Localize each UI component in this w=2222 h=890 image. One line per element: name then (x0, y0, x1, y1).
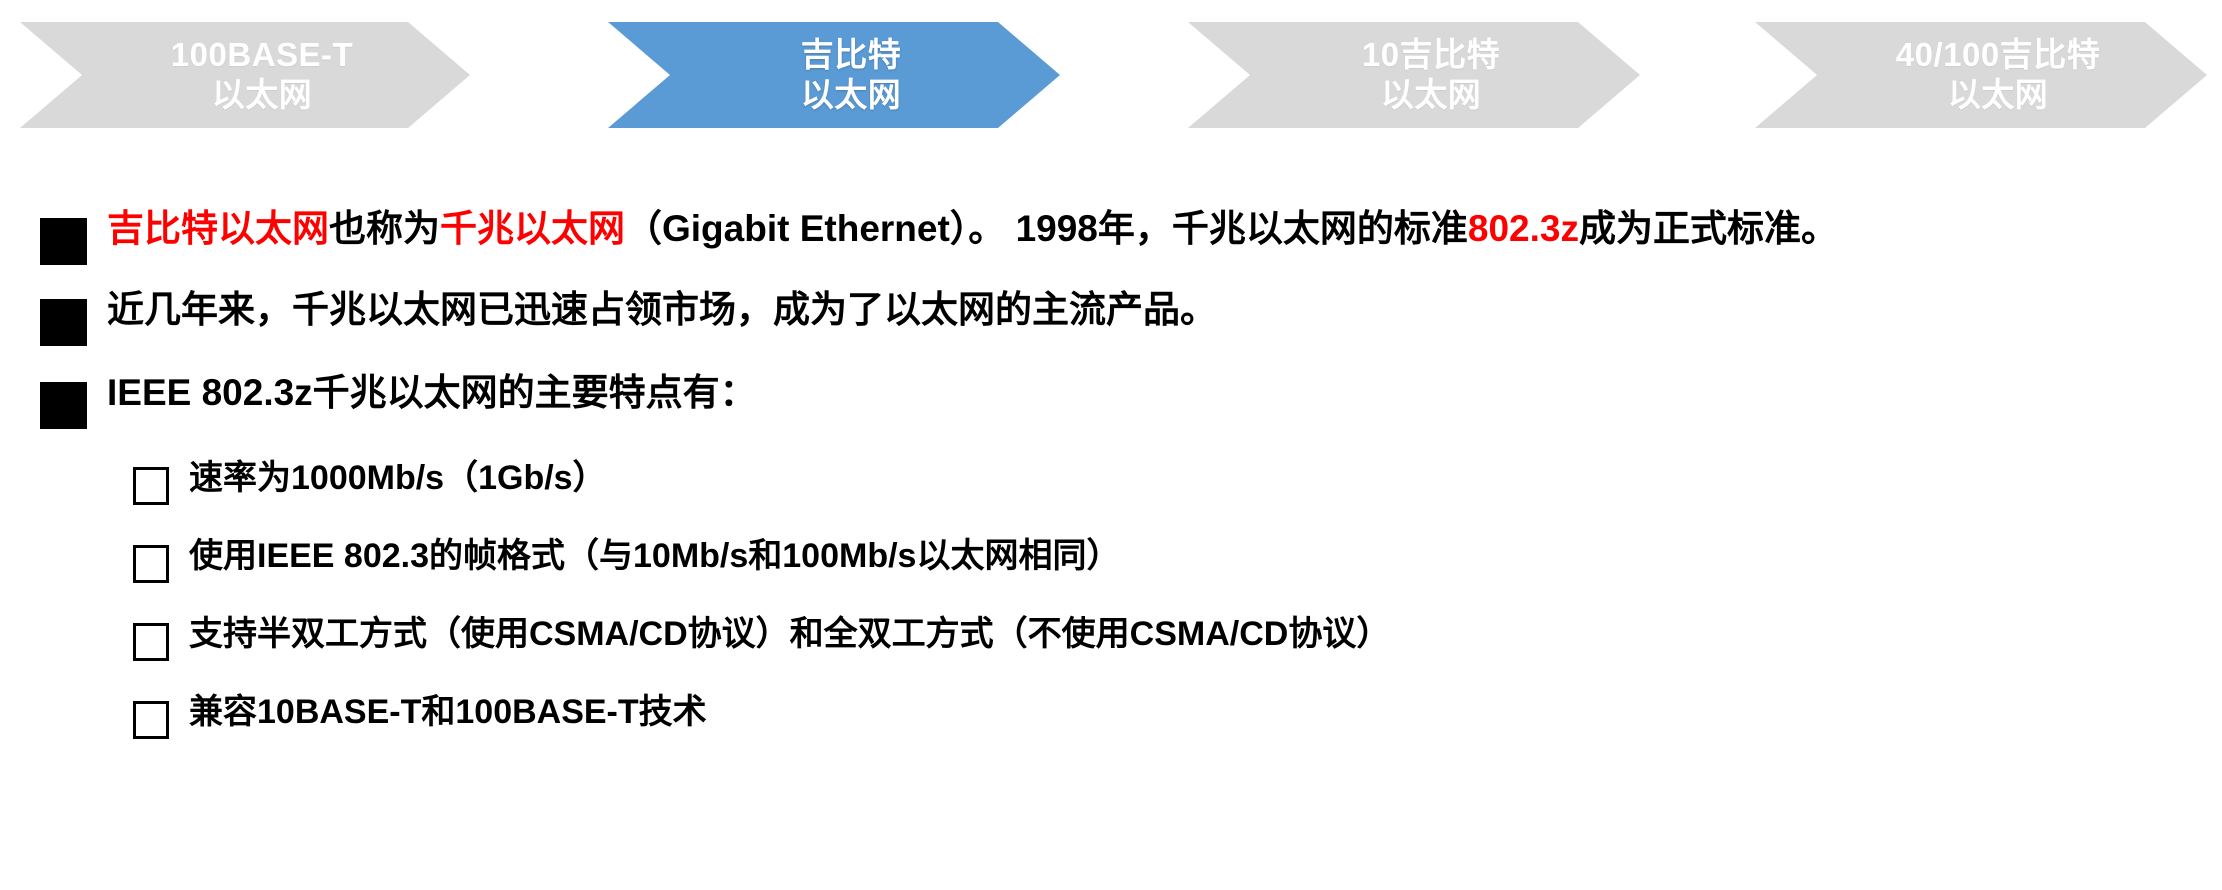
sub-bullet-text: 速率为1000Mb/s（1Gb/s） (189, 459, 607, 497)
bullet-item-definition: 吉比特以太网也称为千兆以太网（Gigabit Ethernet）。 1998年，… (0, 208, 2222, 265)
chevron-step-10-gigabit-ethernet[interactable]: 10吉比特 以太网 (1188, 22, 1640, 128)
bullet-highlight-802-3z: 802.3z (1468, 208, 1579, 249)
chevron-step-label: 100BASE-T 以太网 (137, 35, 353, 116)
sub-bullet-text: 兼容10BASE-T和100BASE-T技术 (189, 693, 707, 731)
bullet-segment-became-official: 成为正式标准。 (1579, 208, 1838, 249)
slide-body: 吉比特以太网也称为千兆以太网（Gigabit Ethernet）。 1998年，… (0, 152, 2222, 771)
hollow-square-bullet-icon (133, 623, 169, 661)
sub-bullet-text: 使用IEEE 802.3的帧格式（与10Mb/s和100Mb/s以太网相同） (189, 537, 1120, 575)
hollow-square-bullet-icon (133, 701, 169, 739)
bullet-text: 吉比特以太网也称为千兆以太网（Gigabit Ethernet）。 1998年，… (107, 208, 1838, 249)
chevron-step-label: 10吉比特 以太网 (1328, 35, 1500, 116)
filled-square-bullet-icon (40, 382, 87, 429)
sub-bullet-text: 支持半双工方式（使用CSMA/CD协议）和全双工方式（不使用CSMA/CD协议） (189, 615, 1390, 653)
bullet-item-market-adoption: 近几年来，千兆以太网已迅速占领市场，成为了以太网的主流产品。 (0, 289, 2222, 346)
hollow-square-bullet-icon (133, 545, 169, 583)
chevron-step-label: 40/100吉比特 以太网 (1862, 35, 2100, 116)
hollow-square-bullet-icon (133, 467, 169, 505)
chevron-step-100base-t[interactable]: 100BASE-T 以太网 (20, 22, 470, 128)
sub-bullet-item-backward-compatibility: 兼容10BASE-T和100BASE-T技术 (0, 693, 2222, 739)
process-chevron-band: 100BASE-T 以太网 吉比特 以太网 10吉比特 以太网 40/100吉比… (0, 0, 2222, 150)
bullet-item-features-heading: IEEE 802.3z千兆以太网的主要特点有： (0, 372, 2222, 429)
filled-square-bullet-icon (40, 218, 87, 265)
bullet-segment-also-called: 也称为 (329, 208, 440, 249)
sub-bullet-item-data-rate: 速率为1000Mb/s（1Gb/s） (0, 459, 2222, 505)
bullet-text: 近几年来，千兆以太网已迅速占领市场，成为了以太网的主流产品。 (107, 289, 1217, 330)
chevron-step-40-100-gigabit-ethernet[interactable]: 40/100吉比特 以太网 (1755, 22, 2207, 128)
bullet-highlight-gigabit-ethernet: 吉比特以太网 (107, 208, 329, 249)
chevron-step-gigabit-ethernet[interactable]: 吉比特 以太网 (608, 22, 1060, 128)
bullet-text: IEEE 802.3z千兆以太网的主要特点有： (107, 372, 757, 413)
sub-bullet-item-frame-format: 使用IEEE 802.3的帧格式（与10Mb/s和100Mb/s以太网相同） (0, 537, 2222, 583)
sub-bullet-item-duplex-modes: 支持半双工方式（使用CSMA/CD协议）和全双工方式（不使用CSMA/CD协议） (0, 615, 2222, 661)
filled-square-bullet-icon (40, 299, 87, 346)
chevron-step-label: 吉比特 以太网 (767, 35, 902, 116)
bullet-segment-standard-year: （Gigabit Ethernet）。 1998年，千兆以太网的标准 (625, 208, 1468, 249)
bullet-highlight-qianzhao-ethernet: 千兆以太网 (440, 208, 625, 249)
